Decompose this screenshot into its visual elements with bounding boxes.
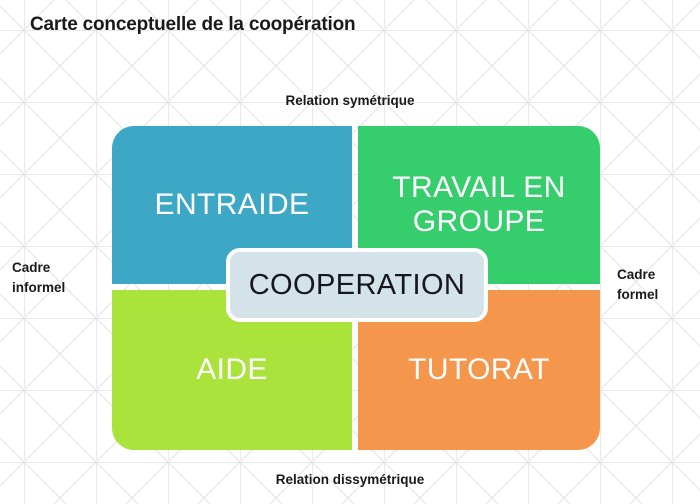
quadrant-aide-label: AIDE [196,353,268,387]
quadrant-travail-en-groupe-label-line1: TRAVAIL EN [392,171,565,204]
axis-label-bottom: Relation dissymétrique [0,470,700,490]
quadrant-travail-en-groupe-label-line2: GROUPE [413,205,545,238]
axis-label-left-line2: informel [12,278,104,298]
axis-label-left-line1: Cadre [12,258,104,278]
axis-label-right-line2: formel [617,285,697,305]
axis-label-top: Relation symétrique [0,91,700,111]
axis-label-left: Cadre informel [12,258,104,297]
quadrant-entraide-label: ENTRAIDE [155,188,310,222]
axis-label-right: Cadre formel [617,265,697,304]
center-node-cooperation[interactable]: COOPERATION [226,248,488,322]
quadrant-travail-en-groupe-label: TRAVAIL EN GROUPE [392,171,565,238]
diagram-canvas: Carte conceptuelle de la coopération Rel… [0,0,700,504]
axis-label-right-line1: Cadre [617,265,697,285]
page-title: Carte conceptuelle de la coopération [30,14,355,36]
quadrant-tutorat-label: TUTORAT [408,353,550,387]
center-node-label: COOPERATION [249,269,466,302]
quadrant-matrix: ENTRAIDE TRAVAIL EN GROUPE AIDE TUTORAT … [112,126,600,450]
